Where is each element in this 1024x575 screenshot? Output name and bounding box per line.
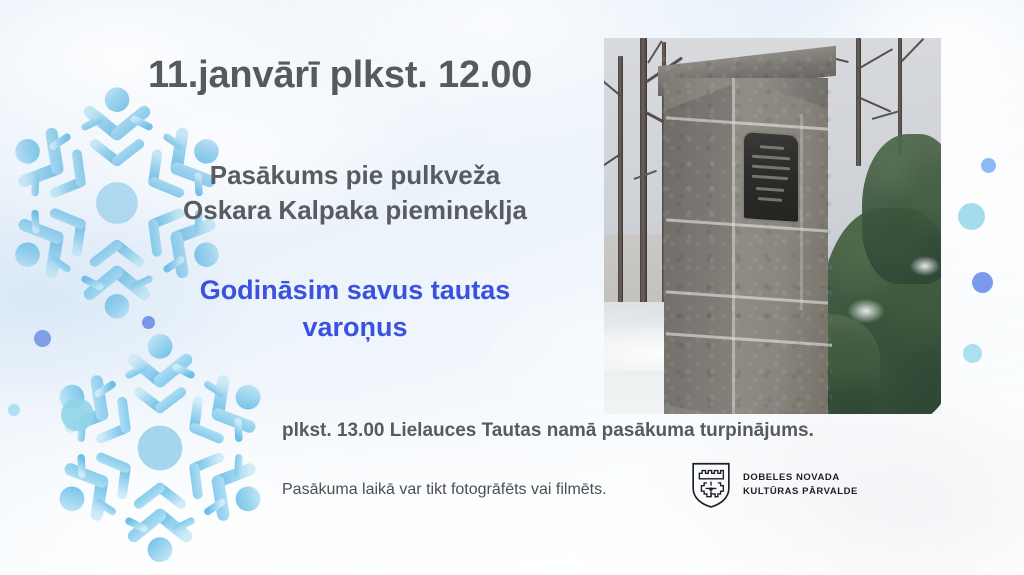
organiser-logo: DOBELES NOVADA KULTŪRAS PĀRVALDE <box>690 461 858 509</box>
monument-photo <box>604 38 941 414</box>
photo-memorial-plaque <box>744 132 798 222</box>
photo-monument-joint <box>732 78 735 414</box>
event-headline: 11.janvārī plkst. 12.00 <box>148 54 532 97</box>
dot-periwinkle-medium <box>34 330 51 347</box>
event-tagline-line-2: varoņus <box>110 309 600 346</box>
photo-monument-joint <box>800 114 803 310</box>
photo-shrub-snow <box>840 294 892 328</box>
organiser-name-line-1: DOBELES NOVADA <box>743 471 858 485</box>
event-tagline-line-1: Godināsim savus tautas <box>110 272 600 309</box>
photography-disclaimer: Pasākuma laikā var tikt fotogrāfēts vai … <box>282 481 607 499</box>
dot-cyan-medium <box>61 398 94 431</box>
dot-cyan-tiny <box>8 404 20 416</box>
photo-tree-trunk <box>856 38 861 166</box>
event-tagline: Godināsim savus tautas varoņus <box>110 272 600 345</box>
event-subtitle-line-1: Pasākums pie pulkveža <box>110 158 600 193</box>
event-subtitle: Pasākums pie pulkveža Oskara Kalpaka pie… <box>110 158 600 228</box>
event-continuation-note: plkst. 13.00 Lielauces Tautas namā pasāk… <box>282 420 814 442</box>
event-subtitle-line-2: Oskara Kalpaka piemineklja <box>110 193 600 228</box>
dot-right-blue <box>972 272 993 293</box>
photo-monument-texture <box>660 56 832 414</box>
organiser-name: DOBELES NOVADA KULTŪRAS PĀRVALDE <box>743 471 858 499</box>
photo-shrub-snow <box>904 252 941 280</box>
poster-canvas: 11.janvārī plkst. 12.00 Pasākums pie pul… <box>0 0 1024 575</box>
dot-right-pale <box>963 344 982 363</box>
dot-right-large <box>958 203 985 230</box>
snowflake-icon <box>36 322 284 574</box>
dobele-coat-of-arms-shield-icon <box>690 461 732 509</box>
dot-right-small <box>981 158 996 173</box>
organiser-name-line-2: KULTŪRAS PĀRVALDE <box>743 485 858 499</box>
